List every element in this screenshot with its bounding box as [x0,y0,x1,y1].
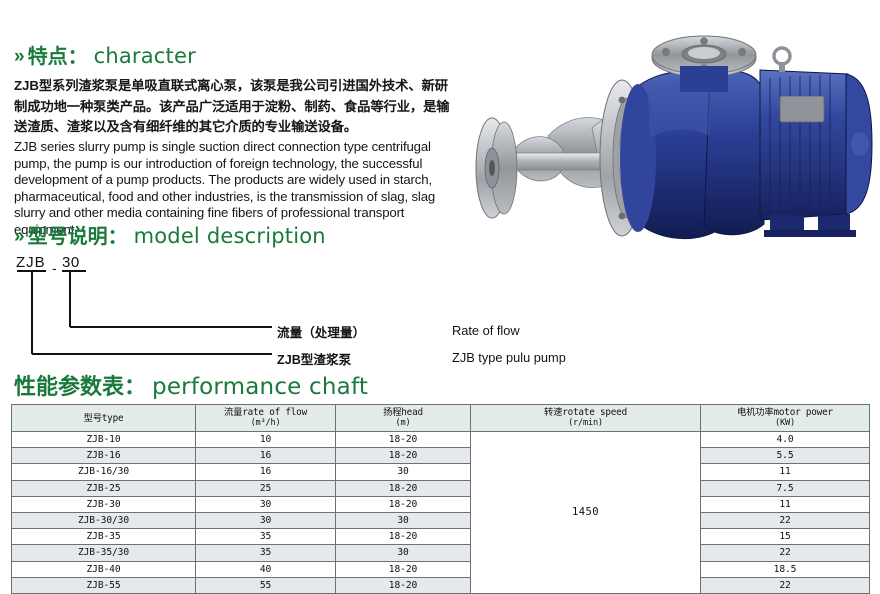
cell-flow: 30 [196,496,336,512]
cell-type: ZJB-40 [12,561,196,577]
column-header-rotate-speed: 转速rotate speed (r/min) [471,405,701,432]
cell-type: ZJB-35 [12,529,196,545]
cell-head: 18-20 [336,448,471,464]
section-title-cn: 型号说明： [28,226,128,248]
chevron-icon: » [14,46,25,67]
cell-power: 5.5 [701,448,870,464]
section-title-en: character [94,44,196,68]
table-row: ZJB-25 25 18-20 7.5 [12,480,870,496]
column-header-type: 型号type [12,405,196,432]
table-row: ZJB-35/30 35 30 22 [12,545,870,561]
cell-type: ZJB-25 [12,480,196,496]
cell-flow: 55 [196,577,336,593]
cell-power: 18.5 [701,561,870,577]
cell-power: 22 [701,577,870,593]
cell-type: ZJB-30 [12,496,196,512]
table-row: ZJB-10 10 18-20 1450 4.0 [12,432,870,448]
cell-flow: 35 [196,529,336,545]
table-row: ZJB-30 30 18-20 11 [12,496,870,512]
cell-type: ZJB-30/30 [12,512,196,528]
section-heading-model: »型号说明：model description [14,226,326,247]
cell-power: 4.0 [701,432,870,448]
character-paragraph-cn: ZJB型系列渣浆泵是单吸直联式离心泵，该泵是我公司引进国外技术、新研制成功地一种… [14,76,454,138]
cell-head: 30 [336,512,471,528]
cell-flow: 30 [196,512,336,528]
section-title-cn: 特点： [28,46,88,68]
model-label-flow-cn: 流量（处理量） [277,322,365,341]
cell-type: ZJB-16 [12,448,196,464]
section-heading-character: »特点：character [14,46,196,67]
cell-flow: 16 [196,464,336,480]
column-header-flow: 流量rate of flow (m³/h) [196,405,336,432]
section-title-cn: 性能参数表： [14,374,146,399]
table-header-row: 型号type 流量rate of flow (m³/h) 扬程head (m) … [12,405,870,432]
cell-flow: 40 [196,561,336,577]
cell-head: 30 [336,545,471,561]
pump-casing [620,71,764,239]
cell-power: 7.5 [701,480,870,496]
column-header-motor-power: 电机功率motor power (KW) [701,405,870,432]
model-label-pump-cn: ZJB型渣浆泵 [277,349,351,368]
table-row: ZJB-16 16 18-20 5.5 [12,448,870,464]
cell-head: 30 [336,464,471,480]
cell-flow: 10 [196,432,336,448]
model-label-pump-en: ZJB type pulu pump [452,350,566,365]
cell-power: 11 [701,464,870,480]
cell-head: 18-20 [336,561,471,577]
cell-head: 18-20 [336,432,471,448]
cell-head: 18-20 [336,496,471,512]
section-title-en: model description [134,224,326,248]
pulley [476,118,517,218]
table-row: ZJB-16/30 16 30 11 [12,464,870,480]
cell-power: 22 [701,512,870,528]
table-row: ZJB-55 55 18-20 22 [12,577,870,593]
table-body: ZJB-10 10 18-20 1450 4.0 ZJB-16 16 18-20… [12,432,870,594]
cell-head: 18-20 [336,577,471,593]
cell-flow: 16 [196,448,336,464]
cell-type: ZJB-55 [12,577,196,593]
cell-head: 18-20 [336,480,471,496]
cell-flow: 35 [196,545,336,561]
column-header-head: 扬程head (m) [336,405,471,432]
cell-power: 11 [701,496,870,512]
product-photo [452,8,880,240]
electric-motor [760,48,872,237]
cell-rotate-speed: 1450 [471,432,701,594]
table-row: ZJB-35 35 18-20 15 [12,529,870,545]
cell-type: ZJB-10 [12,432,196,448]
cell-power: 22 [701,545,870,561]
cell-flow: 25 [196,480,336,496]
performance-table: 型号type 流量rate of flow (m³/h) 扬程head (m) … [11,404,870,594]
cell-type: ZJB-35/30 [12,545,196,561]
section-heading-performance: 性能参数表：performance chaft [14,376,368,399]
cell-head: 18-20 [336,529,471,545]
table-row: ZJB-30/30 30 30 22 [12,512,870,528]
section-title-en: performance chaft [152,374,368,400]
cell-type: ZJB-16/30 [12,464,196,480]
cell-power: 15 [701,529,870,545]
model-label-flow-en: Rate of flow [452,323,520,338]
chevron-icon: » [14,226,25,247]
table-row: ZJB-40 40 18-20 18.5 [12,561,870,577]
